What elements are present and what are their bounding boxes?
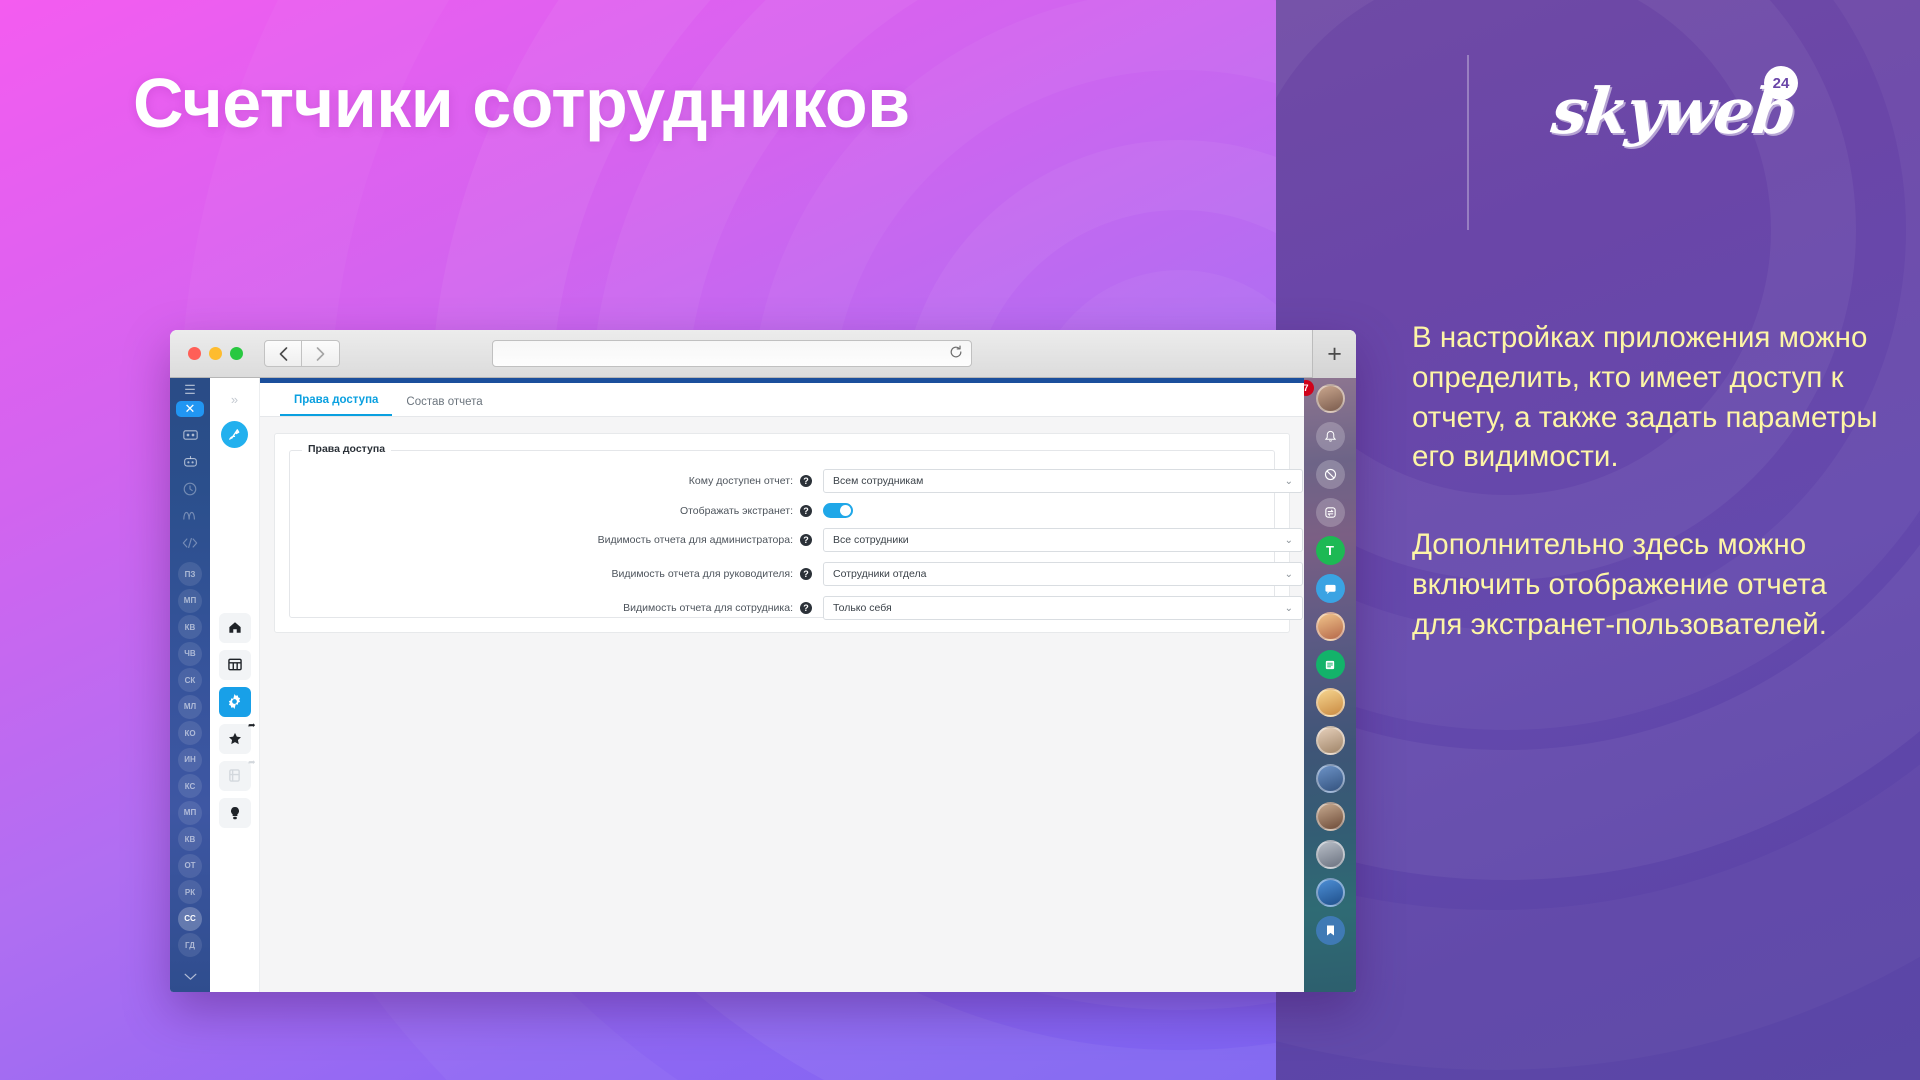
app-tool-sidebar: » ➦ ➦ xyxy=(210,378,260,992)
navigation-buttons[interactable] xyxy=(264,340,340,367)
sidebar-initial-badge[interactable]: РК xyxy=(178,880,202,904)
minimize-window-button[interactable] xyxy=(209,347,222,360)
help-icon[interactable]: ? xyxy=(800,602,812,614)
access-rights-fieldset: Права доступа Кому доступен отчет: ? Все… xyxy=(289,450,1275,618)
sidebar-initial-badge[interactable]: КВ xyxy=(178,827,202,851)
brand-logo: skyweb 24 xyxy=(1552,60,1812,170)
tool-buttons: ➦ ➦ xyxy=(219,613,251,828)
sidebar-initial-badge[interactable]: СК xyxy=(178,668,202,692)
user-avatar-icon[interactable] xyxy=(221,421,248,448)
avatar[interactable] xyxy=(1316,878,1345,907)
bookmark-icon[interactable] xyxy=(1316,916,1345,945)
field-row-manager-visibility: Видимость отчета для руководителя: ? Сот… xyxy=(290,562,1248,586)
avatar[interactable] xyxy=(1316,612,1345,641)
field-row-report-access: Кому доступен отчет: ? Всем сотрудникам … xyxy=(290,469,1248,493)
robot-icon[interactable] xyxy=(176,448,204,475)
arrow-corner-icon: ➦ xyxy=(248,720,256,731)
select-value: Только себя xyxy=(833,602,892,614)
settings-panel: Права доступа Кому доступен отчет: ? Все… xyxy=(274,433,1290,633)
field-label: Кому доступен отчет: xyxy=(290,475,800,487)
sidebar-initial-badge[interactable]: КС xyxy=(178,774,202,798)
waves-icon[interactable] xyxy=(176,502,204,529)
zoom-window-button[interactable] xyxy=(230,347,243,360)
select-admin-visibility[interactable]: Все сотрудники ⌄ xyxy=(823,528,1303,552)
browser-window: + ☰ ✕ ПЗ МП КВ ЧВ xyxy=(170,330,1356,992)
chevrons-right-icon[interactable]: » xyxy=(231,392,238,407)
select-value: Все сотрудники xyxy=(833,534,909,546)
toggle-show-extranet[interactable] xyxy=(823,503,853,518)
reload-icon[interactable] xyxy=(949,345,963,362)
book-icon[interactable]: ➦ xyxy=(219,761,251,791)
chevron-down-icon: ⌄ xyxy=(1285,535,1293,546)
menu-icon[interactable]: ☰ xyxy=(184,382,196,398)
field-row-show-extranet: Отображать экстранет: ? xyxy=(290,503,1248,518)
block-icon[interactable] xyxy=(1316,460,1345,489)
browser-titlebar: + xyxy=(170,330,1356,378)
tv-icon[interactable] xyxy=(176,421,204,448)
side-copy: В настройках приложения можно определить… xyxy=(1412,318,1880,645)
help-icon[interactable]: ? xyxy=(800,475,812,487)
sidebar-initial-badge[interactable]: МЛ xyxy=(178,695,202,719)
sidebar-initial-badge-active[interactable]: СС xyxy=(178,907,202,931)
tab-sostav-otcheta[interactable]: Состав отчета xyxy=(392,396,496,416)
clock-icon[interactable] xyxy=(176,475,204,502)
field-label: Видимость отчета для администратора: xyxy=(290,534,800,546)
sidebar-initial-badge[interactable]: КВ xyxy=(178,615,202,639)
select-value: Сотрудники отдела xyxy=(833,568,926,580)
window-controls[interactable] xyxy=(188,347,243,360)
sidebar-initial-badge[interactable]: ЧВ xyxy=(178,642,202,666)
side-copy-paragraph-2: Дополнительно здесь можно включить отобр… xyxy=(1412,525,1880,644)
grid-icon[interactable] xyxy=(219,650,251,680)
lightbulb-icon[interactable] xyxy=(219,798,251,828)
sidebar-initial-badge[interactable]: ИН xyxy=(178,748,202,772)
chevron-down-icon: ⌄ xyxy=(1285,603,1293,614)
gear-icon[interactable] xyxy=(219,687,251,717)
tab-bar: Права доступа Состав отчета xyxy=(260,383,1304,417)
chevron-down-icon: ⌄ xyxy=(1285,476,1293,487)
app-content: Права доступа Состав отчета Права доступ… xyxy=(260,383,1304,992)
avatar[interactable] xyxy=(1316,384,1345,413)
sidebar-initial-badge[interactable]: ГД xyxy=(178,933,202,957)
field-label: Отображать экстранет: xyxy=(290,505,800,517)
field-row-admin-visibility: Видимость отчета для администратора: ? В… xyxy=(290,528,1248,552)
avatar[interactable] xyxy=(1316,764,1345,793)
sidebar-initial-badge[interactable]: КО xyxy=(178,721,202,745)
arrow-corner-icon: ➦ xyxy=(248,757,256,768)
back-button[interactable] xyxy=(264,340,302,367)
logo-badge-24: 24 xyxy=(1764,66,1798,100)
swap-icon[interactable] xyxy=(1316,498,1345,527)
access-rights-form: Кому доступен отчет: ? Всем сотрудникам … xyxy=(290,451,1274,620)
bell-icon[interactable] xyxy=(1316,422,1345,451)
portal-sidebar: ☰ ✕ ПЗ МП КВ ЧВ СК МЛ КО ИН xyxy=(170,378,210,992)
forward-button[interactable] xyxy=(302,340,340,367)
sidebar-initial-badge[interactable]: ПЗ xyxy=(178,562,202,586)
tab-prava-dostupa[interactable]: Права доступа xyxy=(280,394,392,416)
avatar[interactable] xyxy=(1316,840,1345,869)
field-row-employee-visibility: Видимость отчета для сотрудника: ? Тольк… xyxy=(290,596,1248,620)
logo-wordmark: skyweb xyxy=(1548,74,1798,148)
empty-content-area xyxy=(260,633,1304,992)
desktop-wallpaper-strip: 7 T xyxy=(1304,378,1356,992)
field-label: Видимость отчета для сотрудника: xyxy=(290,602,800,614)
app-viewport: ☰ ✕ ПЗ МП КВ ЧВ СК МЛ КО ИН xyxy=(170,378,1356,992)
new-tab-button[interactable]: + xyxy=(1312,330,1356,378)
star-icon[interactable]: ➦ xyxy=(219,724,251,754)
avatar[interactable] xyxy=(1316,802,1345,831)
close-window-button[interactable] xyxy=(188,347,201,360)
avatar[interactable] xyxy=(1316,726,1345,755)
page-title: Счетчики сотрудников xyxy=(133,63,910,143)
chevron-down-icon[interactable] xyxy=(176,964,204,991)
home-icon[interactable] xyxy=(219,613,251,643)
help-icon[interactable]: ? xyxy=(800,534,812,546)
fieldset-legend: Права доступа xyxy=(302,443,391,455)
help-icon[interactable]: ? xyxy=(800,568,812,580)
help-icon[interactable]: ? xyxy=(800,505,812,517)
chevron-down-icon: ⌄ xyxy=(1285,569,1293,580)
news-icon[interactable] xyxy=(1316,650,1345,679)
sidebar-initial-badge[interactable]: МП xyxy=(178,801,202,825)
field-label: Видимость отчета для руководителя: xyxy=(290,568,800,580)
code-icon[interactable] xyxy=(176,529,204,556)
address-bar[interactable] xyxy=(492,340,972,367)
side-copy-paragraph-1: В настройках приложения можно определить… xyxy=(1412,318,1880,477)
select-employee-visibility[interactable]: Только себя ⌄ xyxy=(823,596,1303,620)
desktop-dock: T xyxy=(1304,378,1356,945)
telegram-icon[interactable]: T xyxy=(1316,536,1345,565)
select-value: Всем сотрудникам xyxy=(833,475,923,487)
avatar[interactable] xyxy=(1316,688,1345,717)
sidebar-initial-badge[interactable]: МП xyxy=(178,589,202,613)
sidebar-close-button[interactable]: ✕ xyxy=(176,401,204,417)
sidebar-initial-badge[interactable]: ОТ xyxy=(178,854,202,878)
logo-divider xyxy=(1467,55,1469,230)
chat-icon[interactable] xyxy=(1316,574,1345,603)
select-report-access[interactable]: Всем сотрудникам ⌄ xyxy=(823,469,1303,493)
select-manager-visibility[interactable]: Сотрудники отдела ⌄ xyxy=(823,562,1303,586)
